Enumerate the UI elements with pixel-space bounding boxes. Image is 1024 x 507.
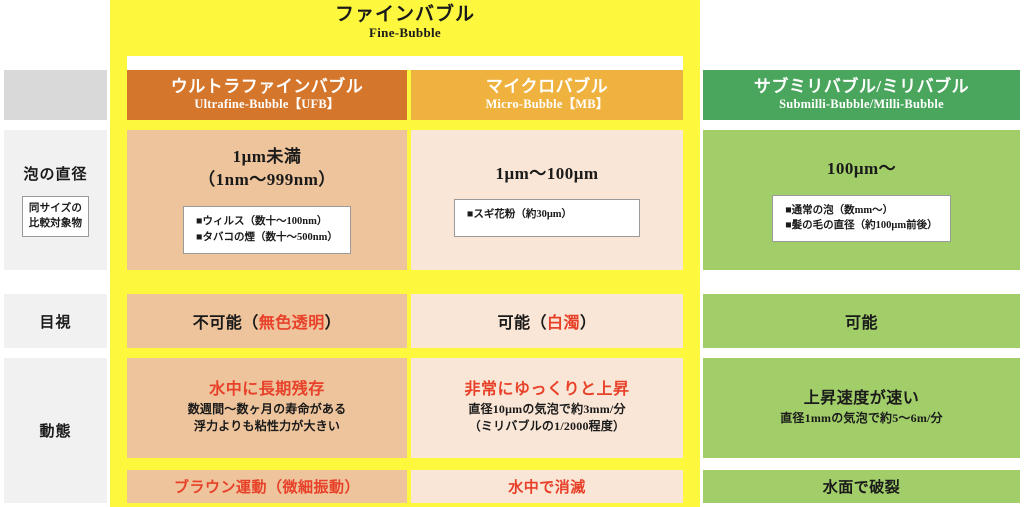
dynamics-mb-head: 非常にゆっくりと上昇 xyxy=(464,380,629,401)
cell-visibility-ufb: 不可能（無色透明） xyxy=(127,294,407,348)
fine-bubble-band-gap xyxy=(127,56,683,70)
cell-footer-smb: 水面で破裂 xyxy=(703,470,1020,503)
diameter-smb-example-2: ■髪の毛の直径（約100μm前後） xyxy=(785,218,937,234)
dynamics-ufb-sub-2: 浮力よりも粘性力が大きい xyxy=(194,418,340,435)
column-header-mb[interactable]: マイクロバブル Micro-Bubble【MB】 xyxy=(411,70,683,120)
row-label-diameter-subchip: 同サイズの 比較対象物 xyxy=(22,196,90,236)
dynamics-ufb-head: 水中に長期残存 xyxy=(209,380,325,401)
diameter-ufb-example-1: ■ウィルス（数十〜100nm） xyxy=(196,214,338,230)
diameter-smb-main-line1: 100μm〜 xyxy=(827,159,896,178)
cell-footer-mb: 水中で消滅 xyxy=(411,470,683,503)
fine-bubble-comparison-table: ファインバブル Fine-Bubble 泡の直径 同サイズの 比較対象物 目視 … xyxy=(0,0,1024,507)
dynamics-mb-sub-2: （ミリバブルの1/2000程度） xyxy=(469,418,626,435)
visibility-smb-text: 可能 xyxy=(845,309,878,333)
column-header-smb-en: Submilli-Bubble/Milli-Bubble xyxy=(779,97,944,113)
column-header-mb-jp: マイクロバブル xyxy=(486,77,608,97)
cell-footer-ufb: ブラウン運動（微細振動） xyxy=(127,470,407,503)
diameter-mb-main-line1: 1μm〜100μm xyxy=(495,164,598,183)
row-label-diameter-text: 泡の直径 xyxy=(23,163,87,184)
row-label-diameter: 泡の直径 同サイズの 比較対象物 xyxy=(4,130,107,270)
row-label-dynamics: 動態 xyxy=(4,358,107,503)
diameter-smb-main: 100μm〜 xyxy=(827,158,896,181)
row-label-visibility-text: 目視 xyxy=(39,311,71,332)
footer-smb-text: 水面で破裂 xyxy=(823,476,901,497)
visibility-mb-tail: ） xyxy=(580,315,597,332)
visibility-mb-text: 可能（白濁） xyxy=(497,309,596,333)
column-header-mb-en: Micro-Bubble【MB】 xyxy=(485,97,608,113)
fine-bubble-title-en: Fine-Bubble xyxy=(110,26,700,41)
cell-dynamics-ufb: 水中に長期残存 数週間〜数ヶ月の寿命がある 浮力よりも粘性力が大きい xyxy=(127,358,407,458)
subchip-line-2: 比較対象物 xyxy=(29,218,83,229)
diameter-mb-examples: ■スギ花粉（約30μm） xyxy=(454,199,640,237)
diameter-ufb-example-2: ■タバコの煙（数十〜500nm） xyxy=(196,230,338,246)
visibility-mb-main: 可能（ xyxy=(497,315,547,332)
diameter-mb-main: 1μm〜100μm xyxy=(495,163,598,186)
diameter-ufb-main: 1μm未満 （1nm〜999nm） xyxy=(198,146,336,192)
fine-bubble-title-jp: ファインバブル xyxy=(110,4,700,26)
cell-diameter-mb: 1μm〜100μm ■スギ花粉（約30μm） xyxy=(411,130,683,270)
dynamics-smb-head: 上昇速度が速い xyxy=(804,389,920,410)
visibility-ufb-tail: ） xyxy=(325,315,342,332)
cell-diameter-smb: 100μm〜 ■通常の泡（数mm〜） ■髪の毛の直径（約100μm前後） xyxy=(703,130,1020,270)
column-header-ufb-jp: ウルトラファインバブル xyxy=(171,77,364,97)
diameter-smb-examples: ■通常の泡（数mm〜） ■髪の毛の直径（約100μm前後） xyxy=(772,195,950,243)
column-header-smb[interactable]: サブミリバブル/ミリバブル Submilli-Bubble/Milli-Bubb… xyxy=(703,70,1020,120)
diameter-mb-example-1: ■スギ花粉（約30μm） xyxy=(467,207,627,223)
column-header-ufb-en: Ultrafine-Bubble【UFB】 xyxy=(194,97,339,113)
footer-ufb-text: ブラウン運動（微細振動） xyxy=(174,476,360,497)
dynamics-ufb-sub-1: 数週間〜数ヶ月の寿命がある xyxy=(188,401,347,418)
diameter-ufb-main-line2: （1nm〜999nm） xyxy=(198,170,336,189)
diameter-ufb-main-line1: 1μm未満 xyxy=(233,147,302,166)
row-label-visibility: 目視 xyxy=(4,294,107,348)
cell-dynamics-mb: 非常にゆっくりと上昇 直径10μmの気泡で約3mm/分 （ミリバブルの1/200… xyxy=(411,358,683,458)
visibility-ufb-accent: 無色透明 xyxy=(259,315,325,332)
footer-mb-text: 水中で消滅 xyxy=(508,476,586,497)
fine-bubble-title: ファインバブル Fine-Bubble xyxy=(110,4,700,56)
cell-visibility-mb: 可能（白濁） xyxy=(411,294,683,348)
dynamics-mb-sub-1: 直径10μmの気泡で約3mm/分 xyxy=(468,401,625,418)
diameter-ufb-examples: ■ウィルス（数十〜100nm） ■タバコの煙（数十〜500nm） xyxy=(183,206,351,254)
row-label-dynamics-text: 動態 xyxy=(39,420,71,441)
cell-diameter-ufb: 1μm未満 （1nm〜999nm） ■ウィルス（数十〜100nm） ■タバコの煙… xyxy=(127,130,407,270)
cell-visibility-smb: 可能 xyxy=(703,294,1020,348)
cell-dynamics-smb: 上昇速度が速い 直径1mmの気泡で約5〜6m/分 xyxy=(703,358,1020,458)
visibility-mb-accent: 白濁 xyxy=(547,315,580,332)
dynamics-smb-sub-1: 直径1mmの気泡で約5〜6m/分 xyxy=(780,410,943,427)
row-label-header-blank xyxy=(4,70,107,120)
diameter-smb-example-1: ■通常の泡（数mm〜） xyxy=(785,203,937,219)
column-header-smb-jp: サブミリバブル/ミリバブル xyxy=(754,77,969,97)
column-header-ufb[interactable]: ウルトラファインバブル Ultrafine-Bubble【UFB】 xyxy=(127,70,407,120)
visibility-ufb-main: 不可能（ xyxy=(193,315,259,332)
visibility-ufb-text: 不可能（無色透明） xyxy=(193,309,342,333)
subchip-line-1: 同サイズの xyxy=(29,203,82,214)
